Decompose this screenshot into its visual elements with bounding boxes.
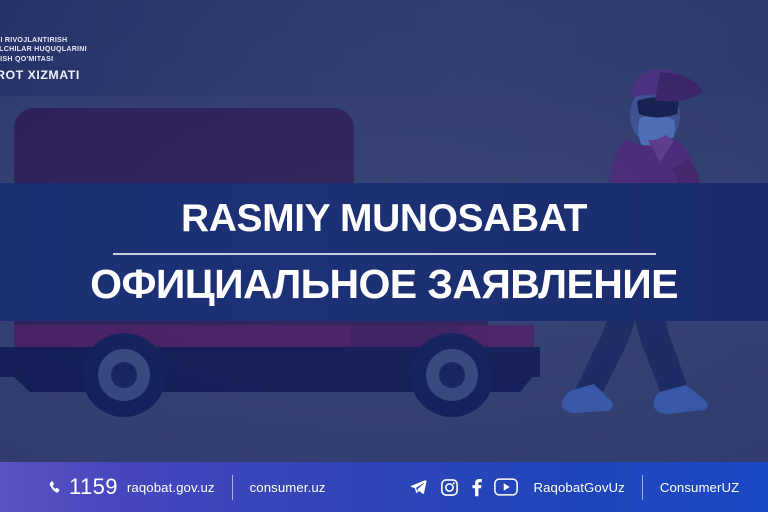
logo-line-3: …A QILISH QO'MITASI xyxy=(0,55,173,64)
headline-uzbek: RASMIY MUNOSABAT xyxy=(181,199,587,240)
website-consumer[interactable]: consumer.uz xyxy=(250,480,326,495)
footer-divider-right xyxy=(642,475,643,500)
facebook-icon[interactable] xyxy=(470,477,483,497)
website-raqobat[interactable]: raqobat.gov.uz xyxy=(127,480,215,495)
footer-contact-group: 1159 raqobat.gov.uz consumer.uz xyxy=(47,474,325,500)
headline-banner: RASMIY MUNOSABAT ОФИЦИАЛЬНОЕ ЗАЯВЛЕНИЕ xyxy=(0,183,768,321)
social-handle-consumer[interactable]: ConsumerUZ xyxy=(660,480,739,495)
poster-canvas: …BATNI RIVOJLANTIRISH …E'MOLCHILAR HUQUQ… xyxy=(0,0,768,512)
social-handle-raqobat[interactable]: RaqobatGovUz xyxy=(533,480,624,495)
phone-number[interactable]: 1159 xyxy=(69,474,118,500)
organization-logo-lockup: …BATNI RIVOJLANTIRISH …E'MOLCHILAR HUQUQ… xyxy=(0,36,173,83)
logo-line-4: …OROT XIZMATI xyxy=(0,67,173,83)
logo-line-2: …E'MOLCHILAR HUQUQLARINI xyxy=(0,45,173,54)
headline-russian: ОФИЦИАЛЬНОЕ ЗАЯВЛЕНИЕ xyxy=(90,264,678,305)
social-icon-row xyxy=(409,477,518,497)
footer-social-group: RaqobatGovUz ConsumerUZ xyxy=(409,475,739,500)
footer-divider-left xyxy=(232,475,233,500)
headline-divider xyxy=(113,253,656,255)
youtube-icon[interactable] xyxy=(494,478,518,496)
phone-icon xyxy=(47,479,62,496)
telegram-icon[interactable] xyxy=(409,477,429,497)
logo-line-1: …BATNI RIVOJLANTIRISH xyxy=(0,36,173,45)
instagram-icon[interactable] xyxy=(440,478,459,497)
footer-contact-bar: 1159 raqobat.gov.uz consumer.uz xyxy=(0,462,768,512)
